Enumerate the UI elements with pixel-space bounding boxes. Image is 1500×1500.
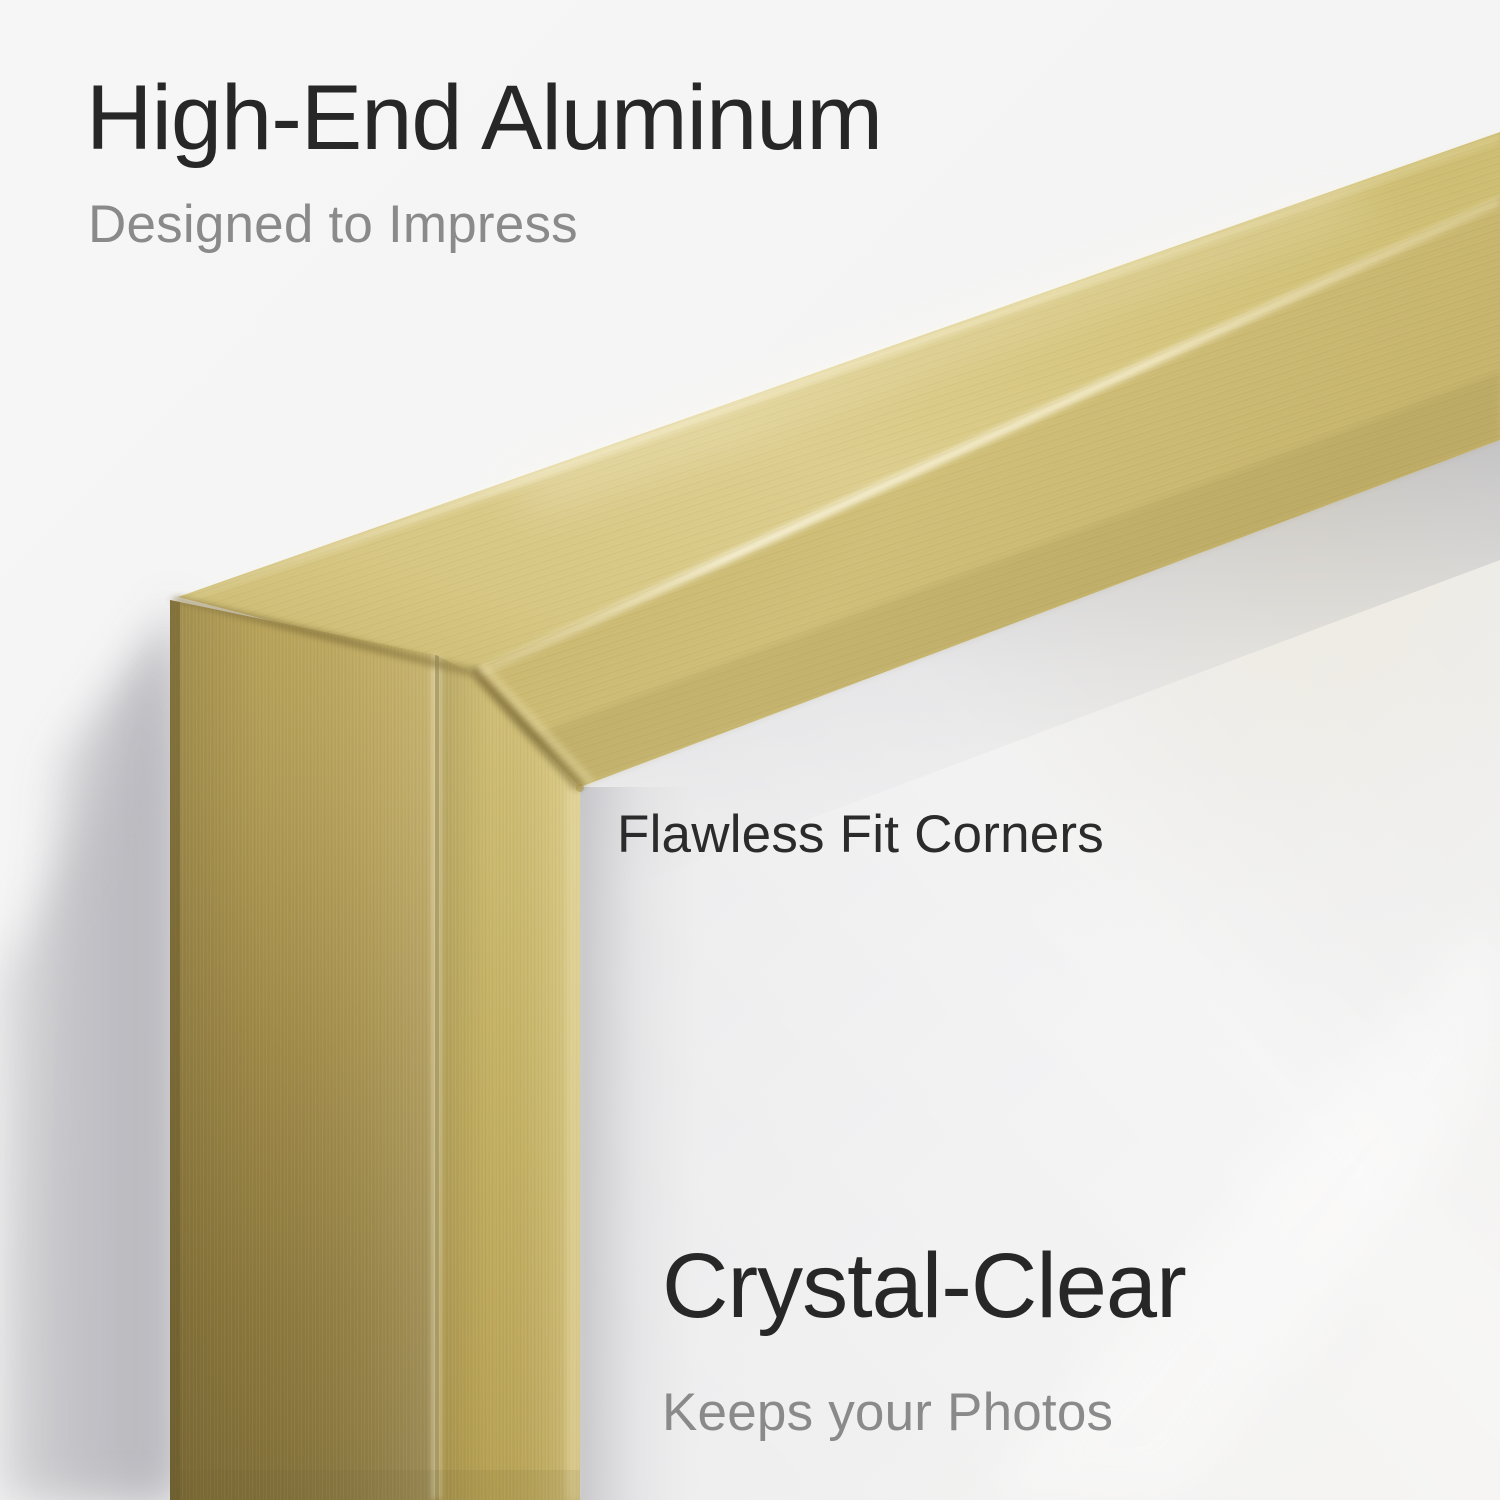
page-subtitle: Designed to Impress [88,198,578,251]
frame-corner-vertical-edge [435,655,439,1500]
page-title: High-End Aluminum [86,72,882,164]
glass-feature-subtitle: Keeps your Photos Looking Sharp [662,1246,1113,1500]
frame-bottom-shadow [170,1470,580,1500]
callout-flawless-fit-corners: Flawless Fit Corners [617,808,1104,861]
glass-feature-subtitle-line-1: Keeps your Photos [662,1380,1113,1447]
miter-inner-vertex [576,784,584,792]
product-marketing-image: High-End Aluminum Designed to Impress Fl… [0,0,1500,1500]
